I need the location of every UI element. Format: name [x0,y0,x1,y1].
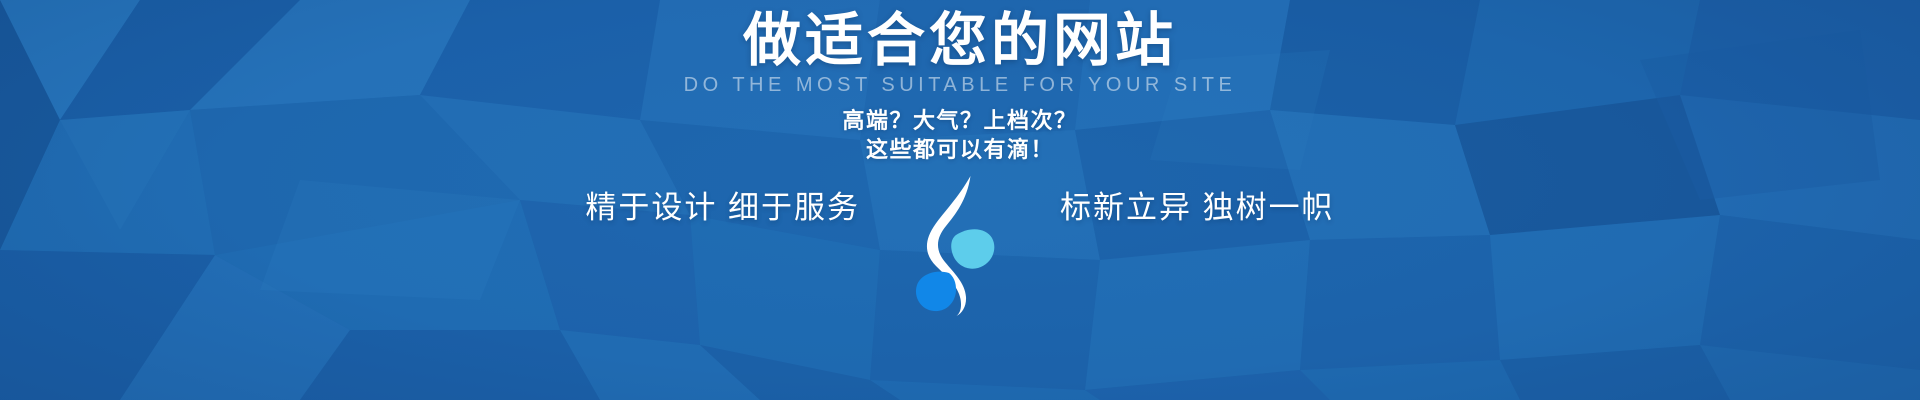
banner-subtitle-english: DO THE MOST SUITABLE FOR YOUR SITE [0,72,1920,98]
leaf-s-curve-logo-icon [900,172,1020,317]
banner-tagline-2: 这些都可以有滴！ [0,135,1920,164]
banner-tagline-1: 高端？大气？上档次？ [0,106,1920,135]
banner-main-title: 做适合您的网站 [0,8,1920,74]
logo-slot [900,178,1020,238]
slogan-left: 精于设计 细于服务 [530,188,900,228]
slogan-row: 精于设计 细于服务 标新立异 独树一帜 [0,178,1920,238]
slogan-right: 标新立异 独树一帜 [1020,188,1390,228]
banner-content: 做适合您的网站 DO THE MOST SUITABLE FOR YOUR SI… [0,0,1920,400]
hero-banner: 做适合您的网站 DO THE MOST SUITABLE FOR YOUR SI… [0,0,1920,400]
